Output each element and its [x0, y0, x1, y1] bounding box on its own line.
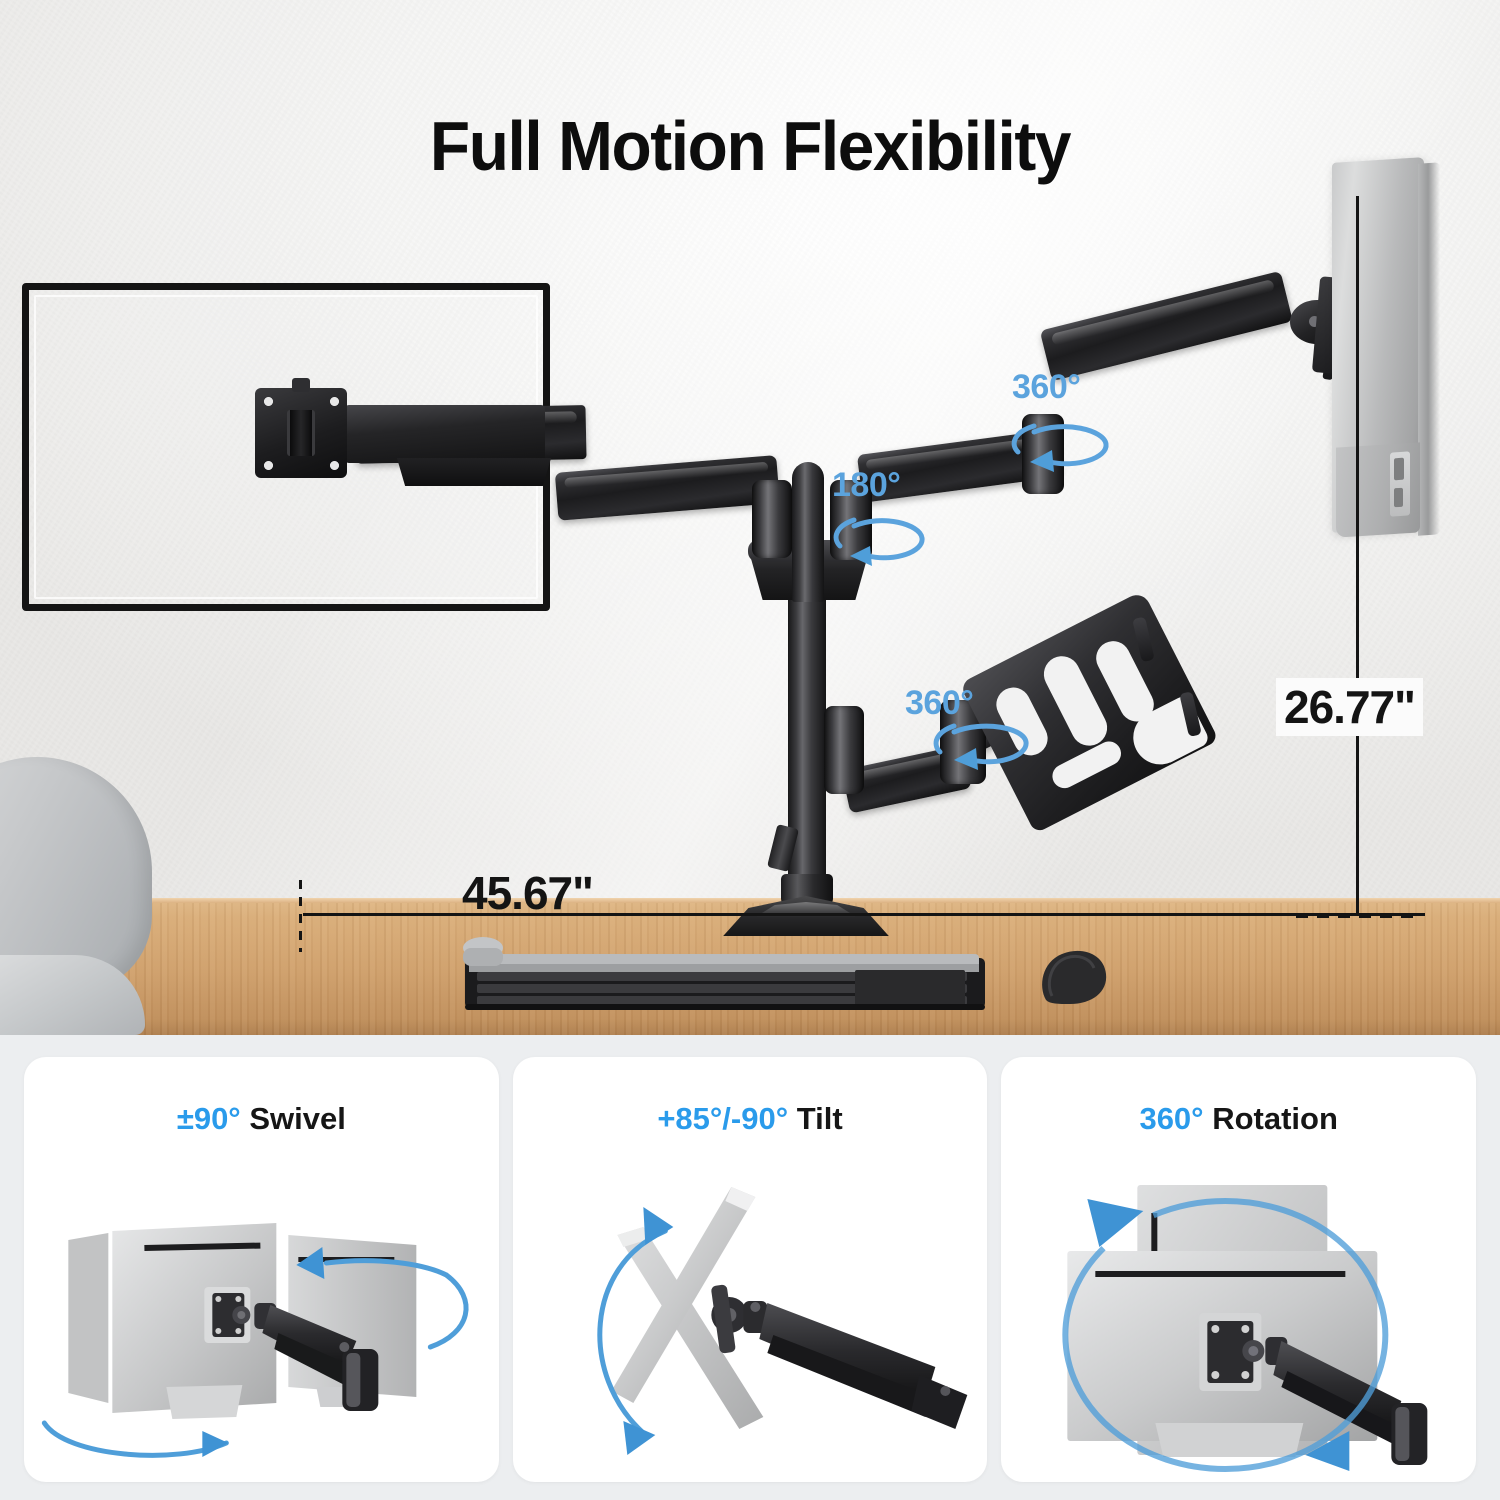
left-arm-head-underside — [392, 458, 556, 486]
left-arm-head — [345, 405, 545, 463]
swivel-illustration — [24, 1135, 499, 1475]
feature-card-tilt-name: Tilt — [797, 1101, 843, 1136]
feature-card-tilt: +85°/-90° Tilt — [513, 1057, 988, 1482]
vertical-dimension-line — [1356, 196, 1359, 916]
feature-card-swivel-name: Swivel — [249, 1101, 346, 1136]
computer-mouse — [1032, 946, 1114, 1008]
desk-edge-highlight — [0, 898, 1500, 903]
feature-card-swivel-art — [24, 1135, 499, 1475]
product-infographic: 180° 360° 360° 45.67" 26.77" Full Motion… — [0, 0, 1500, 1500]
swivel-collar-lower — [824, 706, 864, 794]
vertical-dimension-tick-bottom — [1296, 915, 1420, 918]
callout-180-degree-label: 180° — [832, 466, 900, 505]
feature-card-tilt-degree: +85°/-90° — [657, 1101, 788, 1136]
hero-scene: 180° 360° 360° 45.67" 26.77" Full Motion… — [0, 0, 1500, 1035]
portrait-monitor-usb-port-lower — [1394, 488, 1403, 508]
feature-card-rotation-art — [1001, 1135, 1476, 1475]
vesa-plate-left-tab — [292, 378, 310, 392]
feature-cards-row: ±90° Swivel — [0, 1035, 1500, 1500]
callout-360-degree-upper-label: 360° — [1012, 368, 1080, 407]
tilt-illustration — [513, 1135, 988, 1475]
portrait-monitor-edge — [1418, 162, 1440, 535]
callout-360-degree-tray-label: 360° — [905, 684, 973, 723]
page-title: Full Motion Flexibility — [45, 106, 1455, 186]
feature-card-swivel-title: ±90° Swivel — [24, 1101, 499, 1137]
swivel-collar-left — [752, 480, 792, 558]
feature-card-rotation-title: 360° Rotation — [1001, 1101, 1476, 1137]
feature-card-rotation: 360° Rotation — [1001, 1057, 1476, 1482]
feature-card-swivel: ±90° Swivel — [24, 1057, 499, 1482]
feature-card-tilt-title: +85°/-90° Tilt — [513, 1101, 988, 1137]
keyboard — [455, 936, 995, 1020]
feature-card-swivel-degree: ±90° — [177, 1101, 241, 1136]
feature-card-tilt-art — [513, 1135, 988, 1475]
rotation-collar-right-arm — [1022, 414, 1064, 494]
rotation-illustration — [1001, 1135, 1476, 1475]
feature-card-rotation-degree: 360° — [1139, 1101, 1203, 1136]
horizontal-dimension-tick-left — [299, 880, 302, 952]
vertical-dimension-label: 26.77" — [1276, 678, 1423, 736]
mount-pole-upper — [792, 462, 824, 602]
portrait-monitor-usb-port-upper — [1394, 458, 1404, 481]
vesa-plate-left-slot — [287, 410, 315, 456]
horizontal-dimension-label: 45.67" — [462, 866, 593, 920]
feature-card-rotation-name: Rotation — [1212, 1101, 1338, 1136]
